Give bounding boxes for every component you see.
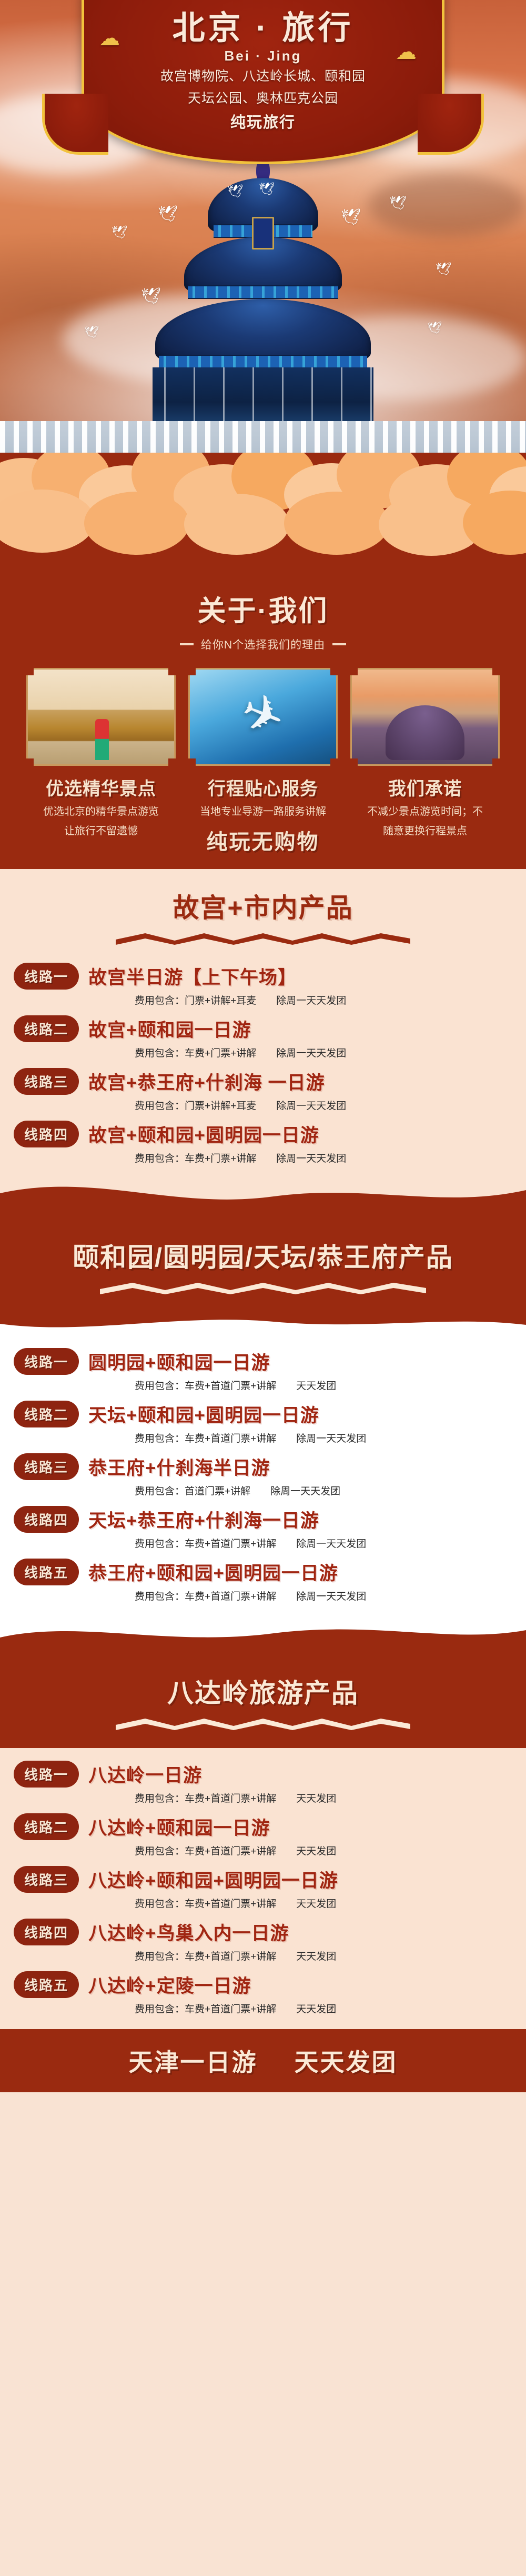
route-name: 恭王府+颐和园+圆明园一日游 xyxy=(88,1559,338,1585)
feature-card-heading: 优选精华景点 xyxy=(26,774,176,800)
feature-card[interactable]: 我们承诺 不减少景点游览时间；不 随意更换行程景点 xyxy=(350,668,500,855)
route-item[interactable]: 线路二 天坛+颐和园+圆明园一日游 费用包含：车费+首道门票+讲解 除周一天天发… xyxy=(0,1397,526,1450)
wave-divider-icon xyxy=(0,1312,526,1335)
footer-banner: 天津一日游 天天发团 xyxy=(0,2029,526,2092)
cloud-puff xyxy=(0,490,95,553)
feature-card-desc-line2: 随意更换行程景点 xyxy=(350,824,500,839)
route-badge: 线路四 xyxy=(14,1121,79,1147)
section-title: 颐和园/圆明园/天坛/恭王府产品 xyxy=(0,1236,526,1274)
temple-of-heaven-illustration xyxy=(142,158,384,453)
about-subtitle: 给你N个选择我们的理由 xyxy=(201,636,325,652)
wave-divider-icon xyxy=(0,1179,526,1215)
route-badge: 线路二 xyxy=(14,1401,79,1427)
feature-card[interactable]: 优选精华景点 优选北京的精华景点游览 让旅行不留遗憾 xyxy=(26,668,176,855)
route-item[interactable]: 线路二 故宫+颐和园一日游 费用包含：车费+门票+讲解 除周一天天发团 xyxy=(0,1012,526,1065)
dove-icon: 🕊 xyxy=(427,322,442,334)
route-item[interactable]: 线路一 故宫半日游【上下午场】 费用包含：门票+讲解+耳麦 除周一天天发团 xyxy=(0,960,526,1012)
feature-card-heading: 我们承诺 xyxy=(350,774,500,800)
route-departure: 除周一天天发团 xyxy=(276,1151,346,1165)
route-name: 八达岭+鸟巢入内一日游 xyxy=(88,1919,289,1945)
route-badge: 线路一 xyxy=(14,1348,79,1375)
dove-icon: 🕊 xyxy=(436,263,451,276)
route-badge: 线路三 xyxy=(14,1453,79,1480)
product-section-1: 故宫+市内产品 线路一 故宫半日游【上下午场】 费用包含：门票+讲解+耳麦 除周… xyxy=(0,869,526,1179)
route-item[interactable]: 线路二 八达岭+颐和园一日游 费用包含：车费+首道门票+讲解 天天发团 xyxy=(0,1810,526,1863)
footer-right-label[interactable]: 天天发团 xyxy=(295,2043,398,2078)
feature-card-desc-line1: 优选北京的精华景点游览 xyxy=(26,804,176,820)
route-name: 天坛+颐和园+圆明园一日游 xyxy=(88,1401,319,1427)
route-name: 八达岭+颐和园+圆明园一日游 xyxy=(88,1866,338,1893)
route-name: 八达岭+颐和园一日游 xyxy=(88,1813,270,1840)
section-3-header: 八达岭旅游产品 xyxy=(0,1651,526,1748)
dove-icon: 🕊 xyxy=(158,206,178,222)
route-badge: 线路四 xyxy=(14,1919,79,1945)
route-name: 故宫+颐和园+圆明园一日游 xyxy=(88,1121,319,1147)
route-departure: 除周一天天发团 xyxy=(296,1589,366,1603)
feature-card-desc-line1: 不减少景点游览时间；不 xyxy=(350,804,500,820)
feature-card-desc-line1: 当地专业导游一路服务讲解 xyxy=(188,804,338,820)
route-departure: 天天发团 xyxy=(296,1843,336,1858)
cloud-puff xyxy=(84,492,189,555)
hero-tagline: 纯玩旅行 xyxy=(0,110,526,132)
section-1-header: 故宫+市内产品 xyxy=(0,869,526,950)
route-badge: 线路五 xyxy=(14,1971,79,1998)
feature-card[interactable]: 行程贴心服务 当地专业导游一路服务讲解 纯玩无购物 xyxy=(188,668,338,855)
dash-left-icon xyxy=(180,643,194,645)
section-1-route-list: 线路一 故宫半日游【上下午场】 费用包含：门票+讲解+耳麦 除周一天天发团 线路… xyxy=(0,950,526,1179)
dove-icon: 🕊 xyxy=(141,288,161,304)
route-includes: 费用包含：门票+讲解+耳麦 xyxy=(135,1098,256,1112)
route-item[interactable]: 线路一 圆明园+颐和园一日游 费用包含：车费+首道门票+讲解 天天发团 xyxy=(0,1345,526,1397)
hero-subtitle-line2: 天坛公园、奥林匹克公园 xyxy=(0,89,526,108)
route-departure: 天天发团 xyxy=(296,1949,336,1963)
temple-roof-lower xyxy=(155,299,371,363)
route-includes: 费用包含：车费+首道门票+讲解 xyxy=(135,1536,276,1550)
forbidden-city-photo xyxy=(26,668,176,766)
dove-icon: 🕊 xyxy=(84,326,99,338)
route-name: 故宫半日游【上下午场】 xyxy=(88,963,297,990)
route-departure: 天天发团 xyxy=(296,1896,336,1910)
route-item[interactable]: 线路五 恭王府+颐和园+圆明园一日游 费用包含：车费+首道门票+讲解 除周一天天… xyxy=(0,1555,526,1608)
route-item[interactable]: 线路四 八达岭+鸟巢入内一日游 费用包含：车费+首道门票+讲解 天天发团 xyxy=(0,1915,526,1968)
route-badge: 线路三 xyxy=(14,1068,79,1095)
route-item[interactable]: 线路三 故宫+恭王府+什刹海 一日游 费用包含：门票+讲解+耳麦 除周一天天发团 xyxy=(0,1065,526,1117)
route-badge: 线路五 xyxy=(14,1559,79,1585)
page-title-pinyin: Bei · Jing xyxy=(0,48,526,64)
route-item[interactable]: 线路四 故宫+颐和园+圆明园一日游 费用包含：车费+门票+讲解 除周一天天发团 xyxy=(0,1117,526,1170)
pure-play-label: 纯玩无购物 xyxy=(188,825,338,855)
route-departure: 除周一天天发团 xyxy=(296,1536,366,1550)
dash-right-icon xyxy=(332,643,346,645)
page-title: 北京 · 旅行 xyxy=(0,9,526,47)
product-section-3: 八达岭旅游产品 线路一 八达岭一日游 费用包含：车费+首道门票+讲解 天天发团 … xyxy=(0,1651,526,2029)
route-departure: 除周一天天发团 xyxy=(270,1483,340,1497)
route-item[interactable]: 线路一 八达岭一日游 费用包含：车费+首道门票+讲解 天天发团 xyxy=(0,1758,526,1810)
route-departure: 天天发团 xyxy=(296,1378,336,1392)
route-departure: 天天发团 xyxy=(296,1791,336,1805)
dove-icon: 🕊 xyxy=(112,226,127,239)
temple-of-heaven-photo xyxy=(350,668,500,766)
temple-name-plaque xyxy=(252,217,274,249)
route-name: 恭王府+什刹海半日游 xyxy=(88,1453,270,1480)
route-name: 八达岭一日游 xyxy=(88,1761,202,1788)
section-2-route-list: 线路一 圆明园+颐和园一日游 费用包含：车费+首道门票+讲解 天天发团 线路二 … xyxy=(0,1335,526,1616)
section-3-route-list: 线路一 八达岭一日游 费用包含：车费+首道门票+讲解 天天发团 线路二 八达岭+… xyxy=(0,1748,526,2029)
route-item[interactable]: 线路三 八达岭+颐和园+圆明园一日游 费用包含：车费+首道门票+讲解 天天发团 xyxy=(0,1863,526,1915)
route-badge: 线路一 xyxy=(14,963,79,990)
wave-divider-icon xyxy=(0,1616,526,1651)
route-includes: 费用包含：车费+首道门票+讲解 xyxy=(135,1378,276,1392)
feature-card-heading: 行程贴心服务 xyxy=(188,774,338,800)
dove-icon: 🕊 xyxy=(341,209,361,225)
temple-decor-band xyxy=(159,355,367,368)
about-us-section: 关于·我们 给你N个选择我们的理由 优选精华景点 优选北京的精华景点游览 让旅行… xyxy=(0,568,526,869)
route-name: 故宫+恭王府+什刹海 一日游 xyxy=(88,1068,325,1095)
route-departure: 天天发团 xyxy=(296,2001,336,2015)
route-departure: 除周一天天发团 xyxy=(276,1098,346,1112)
cloud-puff xyxy=(184,494,289,555)
route-includes: 费用包含：车费+首道门票+讲解 xyxy=(135,1896,276,1910)
route-item[interactable]: 线路三 恭王府+什刹海半日游 费用包含：首道门票+讲解 除周一天天发团 xyxy=(0,1450,526,1503)
route-name: 八达岭+定陵一日游 xyxy=(88,1971,251,1998)
route-name: 天坛+恭王府+什刹海一日游 xyxy=(88,1506,319,1533)
cloud-puff xyxy=(284,492,389,555)
route-name: 圆明园+颐和园一日游 xyxy=(88,1348,270,1375)
route-badge: 线路二 xyxy=(14,1813,79,1840)
route-includes: 费用包含：车费+首道门票+讲解 xyxy=(135,1949,276,1963)
route-departure: 除周一天天发团 xyxy=(276,993,346,1007)
dove-icon: 🕊 xyxy=(259,183,275,196)
temple-decor-band xyxy=(188,285,338,299)
section-2-header: 颐和园/圆明园/天坛/恭王府产品 xyxy=(0,1215,526,1312)
footer-left-label[interactable]: 天津一日游 xyxy=(129,2043,258,2078)
airplane-and-van-photo xyxy=(188,668,338,766)
feature-card-desc-line2: 让旅行不留遗憾 xyxy=(26,824,176,839)
temple-base-hall xyxy=(153,367,373,425)
route-includes: 费用包含：首道门票+讲解 xyxy=(135,1483,250,1497)
dove-icon: 🕊 xyxy=(389,196,407,209)
route-includes: 费用包含：车费+门票+讲解 xyxy=(135,1045,256,1060)
route-departure: 除周一天天发团 xyxy=(296,1431,366,1445)
hero-subtitle-line1: 故宫博物院、八达岭长城、颐和园 xyxy=(0,67,526,86)
route-includes: 费用包含：门票+讲解+耳麦 xyxy=(135,993,256,1007)
section-title: 故宫+市内产品 xyxy=(0,887,526,925)
route-includes: 费用包含：车费+首道门票+讲解 xyxy=(135,2001,276,2015)
route-item[interactable]: 线路五 八达岭+定陵一日游 费用包含：车费+首道门票+讲解 天天发团 xyxy=(0,1968,526,2021)
section-title: 八达岭旅游产品 xyxy=(0,1672,526,1710)
route-badge: 线路二 xyxy=(14,1015,79,1042)
route-badge: 线路三 xyxy=(14,1866,79,1893)
zigzag-divider-icon xyxy=(100,1281,426,1294)
zigzag-divider-icon xyxy=(116,931,410,945)
hero-banner: 🕊 🕊 🕊 🕊 🕊 🕊 🕊 🕊 🕊 🕊 ☁ ☁ 北京 · 旅行 Bei · Ji… xyxy=(0,0,526,516)
route-includes: 费用包含：车费+首道门票+讲解 xyxy=(135,1791,276,1805)
route-includes: 费用包含：车费+首道门票+讲解 xyxy=(135,1431,276,1445)
route-badge: 线路四 xyxy=(14,1506,79,1533)
route-includes: 费用包含：车费+门票+讲解 xyxy=(135,1151,256,1165)
route-departure: 除周一天天发团 xyxy=(276,1045,346,1060)
about-title: 关于·我们 xyxy=(0,587,526,629)
zigzag-divider-icon xyxy=(116,1716,410,1730)
about-subtitle-row: 给你N个选择我们的理由 xyxy=(0,636,526,652)
route-item[interactable]: 线路四 天坛+恭王府+什刹海一日游 费用包含：车费+首道门票+讲解 除周一天天发… xyxy=(0,1503,526,1555)
cloud-divider xyxy=(0,453,526,568)
route-includes: 费用包含：车费+首道门票+讲解 xyxy=(135,1589,276,1603)
dove-icon: 🕊 xyxy=(227,185,243,198)
feature-card-list: 优选精华景点 优选北京的精华景点游览 让旅行不留遗憾 行程贴心服务 当地专业导游… xyxy=(0,668,526,855)
route-includes: 费用包含：车费+首道门票+讲解 xyxy=(135,1843,276,1858)
route-badge: 线路一 xyxy=(14,1761,79,1788)
route-name: 故宫+颐和园一日游 xyxy=(88,1015,251,1042)
product-section-2: 颐和园/圆明园/天坛/恭王府产品 线路一 圆明园+颐和园一日游 费用包含：车费+… xyxy=(0,1215,526,1616)
